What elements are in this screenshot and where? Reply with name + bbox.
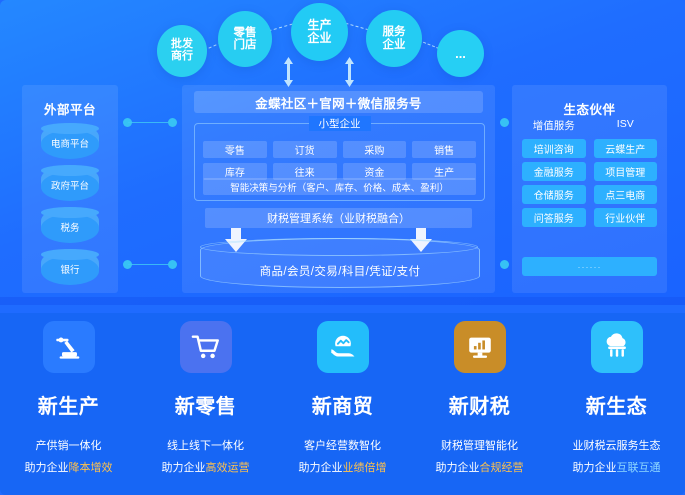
solution-card-new-retail[interactable]: 新零售 线上线下一体化 助力企业高效运营 <box>137 313 274 495</box>
card-line1: 线上线下一体化 <box>167 437 244 453</box>
item-label: 税务 <box>60 220 79 234</box>
card-title: 新财税 <box>449 390 511 419</box>
bubble-production-enterprise[interactable]: 生产企业 <box>291 3 348 61</box>
connector-dot-right-bottom <box>500 260 509 269</box>
bubble-more[interactable]: ... <box>437 30 484 77</box>
solution-card-row: 新生产 产供销一体化 助力企业降本增效 新零售 线上线下一体化 助力 <box>0 313 685 495</box>
community-banner[interactable]: 金蝶社区＋官网＋微信服务号 <box>194 91 483 113</box>
card-line2: 助力企业业绩倍增 <box>299 459 387 475</box>
module-retail[interactable]: 零售 <box>203 141 267 158</box>
partner-label: 仓储服务 <box>534 187 574 202</box>
cloud-network-icon <box>591 321 643 373</box>
partner-label: 项目管理 <box>605 164 645 179</box>
partner-training-consulting[interactable]: 培训咨询 <box>522 139 586 158</box>
connector-left-top <box>123 118 177 127</box>
bubble-line: 商行 <box>171 51 193 63</box>
external-platform-item-bank[interactable]: 银行 <box>41 249 99 285</box>
module-purchase[interactable]: 采购 <box>343 141 407 158</box>
solution-card-new-trade[interactable]: 新商贸 客户经营数智化 助力企业业绩倍增 <box>274 313 411 495</box>
card-line2-plain: 助力企业 <box>162 462 206 474</box>
module-sales[interactable]: 销售 <box>412 141 476 158</box>
card-line2-plain: 助力企业 <box>299 462 343 474</box>
module-ordering[interactable]: 订货 <box>273 141 337 158</box>
bubble-line: 门店 <box>234 39 257 51</box>
partner-label: 问答服务 <box>534 210 574 225</box>
card-line2-highlight: 业绩倍增 <box>343 462 387 474</box>
community-banner-label: 金蝶社区＋官网＋微信服务号 <box>255 93 421 112</box>
connector-dot <box>168 118 177 127</box>
connector-dot-right-top <box>500 118 509 127</box>
partner-project-management[interactable]: 项目管理 <box>594 162 658 181</box>
bubble-line: ... <box>455 47 466 61</box>
connector-left-bottom <box>123 260 177 269</box>
card-title: 新商贸 <box>312 390 374 419</box>
bubble-connector-dash-2 <box>268 24 292 32</box>
external-platform-item-ecommerce[interactable]: 电商平台 <box>41 123 99 159</box>
card-title: 新零售 <box>175 390 237 419</box>
smart-decision-label: 智能决策与分析（客户、库存、价格、成本、盈利） <box>230 180 449 194</box>
bubble-line: 企业 <box>383 39 406 51</box>
bubble-line: 零售 <box>234 27 257 39</box>
module-label: 生产 <box>434 164 454 179</box>
infographic-root: 批发商行 零售门店 生产企业 服务企业 ... 外部平台 电商平台 政府平台 税… <box>0 0 685 495</box>
robot-arm-icon <box>43 321 95 373</box>
bubble-line: 服务 <box>383 26 406 38</box>
card-line1: 客户经营数智化 <box>304 437 381 453</box>
external-platform-item-tax[interactable]: 税务 <box>41 207 99 243</box>
bottom-section: 新生产 产供销一体化 助力企业降本增效 新零售 线上线下一体化 助力 <box>0 313 685 495</box>
ecosystem-partner-panel: 生态伙伴 增值服务 ISV 培训咨询 云蝶生产 金融服务 项目管理 仓储服务 点… <box>512 85 667 293</box>
data-repository-cylinder: 商品/会员/交易/科目/凭证/支付 <box>200 238 480 288</box>
partner-more-label: ······ <box>578 262 602 272</box>
item-label: 银行 <box>60 262 79 276</box>
card-line1: 业财税云服务生态 <box>573 437 661 453</box>
card-line2: 助力企业高效运营 <box>162 459 250 475</box>
solution-card-new-finance-tax[interactable]: 新财税 财税管理智能化 助力企业合规经营 <box>411 313 548 495</box>
card-line2-highlight: 高效运营 <box>206 462 250 474</box>
card-line1: 财税管理智能化 <box>441 437 518 453</box>
small-enterprise-label: 小型企业 <box>309 116 371 131</box>
bubble-service-enterprise[interactable]: 服务企业 <box>366 10 422 67</box>
card-line2-plain: 助力企业 <box>25 462 69 474</box>
module-label: 零售 <box>225 142 245 157</box>
solution-card-new-production[interactable]: 新生产 产供销一体化 助力企业降本增效 <box>0 313 137 495</box>
card-line1: 产供销一体化 <box>36 437 102 453</box>
partner-label: 行业伙伴 <box>605 210 645 225</box>
partner-label: 金融服务 <box>534 164 574 179</box>
vertical-double-arrow-icon <box>344 57 355 87</box>
card-line2: 助力企业合规经营 <box>436 459 524 475</box>
bubble-connector-dash-3 <box>345 23 368 31</box>
card-title: 新生产 <box>38 390 100 419</box>
partner-qa-service[interactable]: 问答服务 <box>522 208 586 227</box>
card-line2: 助力企业降本增效 <box>25 459 113 475</box>
card-line2-plain: 助力企业 <box>436 462 480 474</box>
module-label: 库存 <box>225 164 245 179</box>
external-platform-item-government[interactable]: 政府平台 <box>41 165 99 201</box>
card-line2-highlight: 合规经营 <box>480 462 524 474</box>
solution-card-new-ecosystem[interactable]: 新生态 业财税云服务生态 助力企业互联互通 <box>548 313 685 495</box>
module-label: 销售 <box>434 142 454 157</box>
item-label: 政府平台 <box>51 178 89 192</box>
partner-label: 云蝶生产 <box>605 141 645 156</box>
trade-hand-chart-icon <box>317 321 369 373</box>
module-label: 订货 <box>295 142 315 157</box>
connector-line <box>128 264 172 265</box>
module-label: 采购 <box>364 142 384 157</box>
monitor-bar-chart-icon <box>454 321 506 373</box>
partner-columns: 增值服务 ISV 培训咨询 云蝶生产 金融服务 项目管理 仓储服务 点三电商 问… <box>522 118 657 227</box>
partner-diansan-ecommerce[interactable]: 点三电商 <box>594 185 658 204</box>
partner-label: 培训咨询 <box>534 141 574 156</box>
small-enterprise-box: 小型企业 零售 订货 采购 销售 库存 往来 资金 生产 智能决策与分析（客户、… <box>194 123 485 201</box>
module-grid: 零售 订货 采购 销售 库存 往来 资金 生产 <box>203 141 476 180</box>
partner-financial-service[interactable]: 金融服务 <box>522 162 586 181</box>
card-title: 新生态 <box>586 390 648 419</box>
card-line2-highlight: 互联互通 <box>617 462 661 474</box>
tax-management-system-bar[interactable]: 财税管理系统（业财税融合） <box>205 208 472 228</box>
tax-management-label: 财税管理系统（业财税融合） <box>267 210 410 226</box>
external-platform-panel: 外部平台 电商平台 政府平台 税务 银行 <box>22 85 118 293</box>
item-label: 电商平台 <box>51 136 89 150</box>
bubble-line: 企业 <box>307 32 331 45</box>
partner-warehousing-service[interactable]: 仓储服务 <box>522 185 586 204</box>
partner-more-button[interactable]: ······ <box>522 257 657 276</box>
card-line2-plain: 助力企业 <box>573 462 617 474</box>
enterprise-bubble-row: 批发商行 零售门店 生产企业 服务企业 ... <box>0 0 685 90</box>
connector-line <box>128 122 172 123</box>
partner-col-header-value-added: 增值服务 <box>522 118 586 135</box>
module-label: 资金 <box>364 164 384 179</box>
partner-label: 点三电商 <box>605 187 645 202</box>
module-label: 往来 <box>295 164 315 179</box>
bubble-retail-store[interactable]: 零售门店 <box>218 11 272 67</box>
partner-col-header-isv: ISV <box>594 118 658 135</box>
connector-dot <box>168 260 177 269</box>
card-line2: 助力企业互联互通 <box>573 459 661 475</box>
external-platform-title: 外部平台 <box>22 99 118 118</box>
shopping-cart-icon <box>180 321 232 373</box>
smart-decision-analysis-bar[interactable]: 智能决策与分析（客户、库存、价格、成本、盈利） <box>203 178 476 195</box>
ecosystem-partner-title: 生态伙伴 <box>512 99 667 118</box>
bubble-wholesale[interactable]: 批发商行 <box>157 25 207 77</box>
card-line2-highlight: 降本增效 <box>69 462 113 474</box>
data-repository-label: 商品/会员/交易/科目/凭证/支付 <box>201 263 479 279</box>
partner-industry-partner[interactable]: 行业伙伴 <box>594 208 658 227</box>
partner-yundie-production[interactable]: 云蝶生产 <box>594 139 658 158</box>
vertical-double-arrow-icon <box>283 57 294 87</box>
